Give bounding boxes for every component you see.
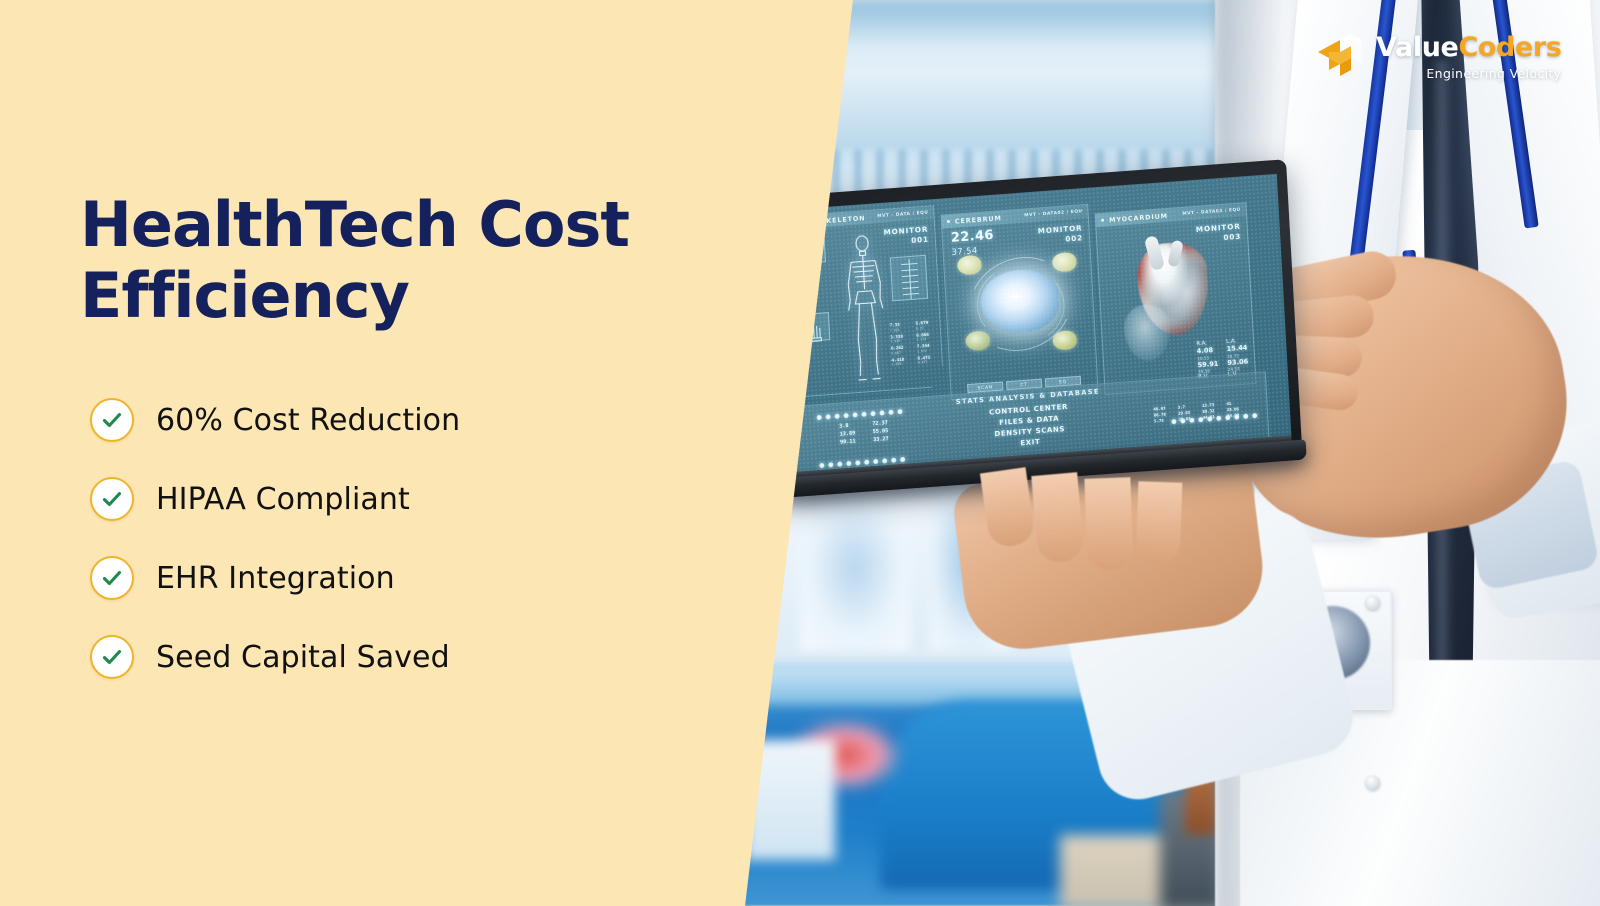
readout-sub: 1.918 (890, 339, 900, 344)
check-icon (90, 398, 134, 442)
check-icon (90, 635, 134, 679)
panel-cerebrum: CEREBRUM MVT - DATA02 / EQU 22.46 37.54 … (941, 204, 1099, 401)
coat-button-upper (1366, 596, 1380, 610)
logo-tagline: Engineering Velocity (1376, 66, 1561, 81)
holding-finger (1084, 477, 1133, 571)
spine-xray-thumbnail (890, 255, 928, 302)
readout-sub: 1.079 (892, 362, 902, 367)
skeleton-readout-numbers: 7.337.024 5.6790.19 3.3381.918 6.6661.11… (890, 320, 940, 367)
coat-button-lower (1366, 776, 1380, 790)
skeleton-figure (839, 232, 893, 387)
readout-sub: 0.19 (916, 326, 924, 331)
status-dot-icon (947, 220, 950, 223)
list-item-label: 60% Cost Reduction (156, 403, 460, 438)
list-item: EHR Integration (90, 556, 690, 600)
stat-sub: 39.58 (1198, 368, 1219, 375)
readout-sub: 8.477 (918, 360, 928, 365)
feature-list: 60% Cost Reduction HIPAA Compliant EHR I… (90, 398, 690, 679)
panel-meta: MVT - DATA02 / EQU (1024, 209, 1083, 218)
list-item: Seed Capital Saved (90, 635, 690, 679)
logo-word-value: Value (1376, 32, 1458, 63)
check-icon (90, 477, 134, 521)
stat-sub: 24.53 (1228, 365, 1249, 372)
logo-wordmark: ValueCoders (1376, 34, 1561, 61)
brain-scan-thumb (957, 255, 982, 276)
title-line-2: Efficiency (80, 259, 409, 332)
panel-myocardium: MYOCARDIUM MVT - DATA03 / EQU MONITOR 00… (1095, 202, 1257, 395)
holding-finger (1031, 472, 1084, 564)
logo-text-block: ValueCoders Engineering Velocity (1376, 32, 1561, 81)
laptop-device: ENDOSKELETON MVT - DATA / EQU MONITOR 00… (767, 159, 1302, 497)
list-item-label: HIPAA Compliant (156, 482, 410, 517)
title-line-1: HealthTech Cost (80, 188, 629, 261)
panel-title: CEREBRUM (955, 214, 1002, 225)
list-item-label: EHR Integration (156, 561, 395, 596)
panel-meta: MVT - DATA03 / EQU (1182, 208, 1241, 217)
readout-sub: 1.972 (917, 349, 927, 354)
status-left-numbers: 3.8 72.37 13.89 55.05 90.11 33.27 (839, 419, 903, 447)
laptop-screen: ENDOSKELETON MVT - DATA / EQU MONITOR 00… (776, 174, 1291, 472)
panel-title: MYOCARDIUM (1109, 211, 1168, 223)
logo-word-coders: Coders (1458, 32, 1561, 63)
monitor-label-cerebrum: MONITOR 002 (1038, 223, 1084, 246)
readout-sub: 7.024 (890, 328, 900, 333)
readout-sub: 9.667 (891, 351, 901, 356)
brain-scan-thumb (965, 330, 990, 351)
brain-scan-thumb (1052, 252, 1077, 273)
holding-finger (1136, 481, 1183, 564)
monitor-label-myocardium: MONITOR 003 (1196, 222, 1242, 245)
panel-meta: MVT - DATA / EQU (877, 210, 929, 219)
content-wrapper: HealthTech Cost Efficiency 60% Cost Redu… (80, 0, 720, 906)
brand-logo[interactable]: ValueCoders Engineering Velocity (1318, 32, 1561, 81)
list-item-label: Seed Capital Saved (156, 640, 450, 675)
readout-sub: 1.114 (916, 337, 926, 342)
monitor-label-endoskeleton: MONITOR 001 (883, 225, 929, 248)
heart-ghost-render (1123, 303, 1172, 362)
cerebrum-primary-value: 22.46 37.54 (950, 228, 994, 257)
check-icon (90, 556, 134, 600)
valuecoders-logo-icon (1318, 32, 1364, 78)
page-title: HealthTech Cost Efficiency (80, 190, 680, 331)
status-dot-icon (1101, 219, 1104, 222)
brain-scan-thumb (1052, 330, 1077, 351)
list-item: 60% Cost Reduction (90, 398, 690, 442)
list-item: HIPAA Compliant (90, 477, 690, 521)
lab-xray-viewer-left (800, 500, 910, 650)
